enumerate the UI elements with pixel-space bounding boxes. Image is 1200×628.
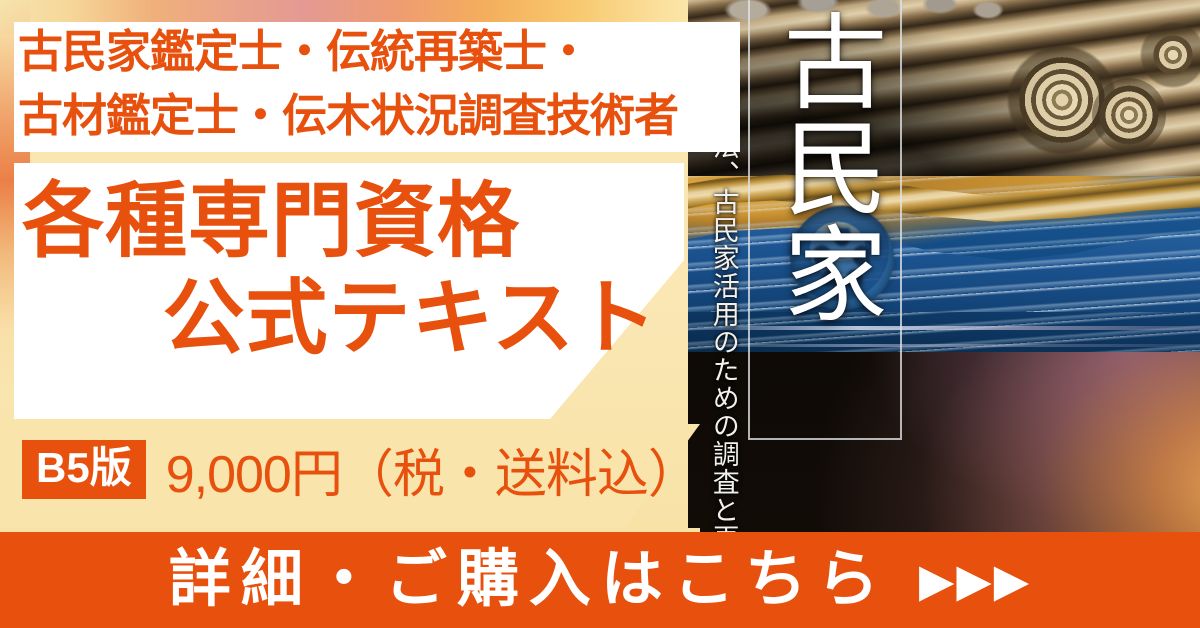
wood-scroll-curl-icon [1140,22,1200,88]
book-cover-title: 古民家 [758,8,892,326]
price-amount: 9,000円（税・送料込） [166,432,699,507]
wood-scroll-curl-icon [1092,78,1166,152]
triple-right-arrow-icon: ▶▶▶ [919,557,1031,603]
page-title: 各種専門資格 公式テキスト [22,178,682,363]
book-cover-photo: 伝統構法、古民家活用のための調査と再生の 古民家 [688,0,1200,532]
certifications-line-1: 古民家鑑定士・伝統再築士・ [18,20,730,84]
cta-label: 詳細・ご購入はこちら [169,549,889,611]
certifications-line-2: 古材鑑定士・伝木状況調査技術者 [18,84,730,148]
heading-line-1: 各種専門資格 [22,178,682,267]
certifications-text: 古民家鑑定士・伝統再築士・ 古材鑑定士・伝木状況調査技術者 [18,20,730,148]
promo-banner: 伝統構法、古民家活用のための調査と再生の 古民家 古民家鑑定士・伝統再築士・ 古… [0,0,1200,628]
price-row: B5版 9,000円（税・送料込） [22,432,699,507]
heading-line-2: 公式テキスト [22,275,682,364]
status-badge-book-size: B5版 [22,440,146,498]
details-purchase-cta-button[interactable]: 詳細・ご購入はこちら ▶▶▶ [0,532,1200,628]
